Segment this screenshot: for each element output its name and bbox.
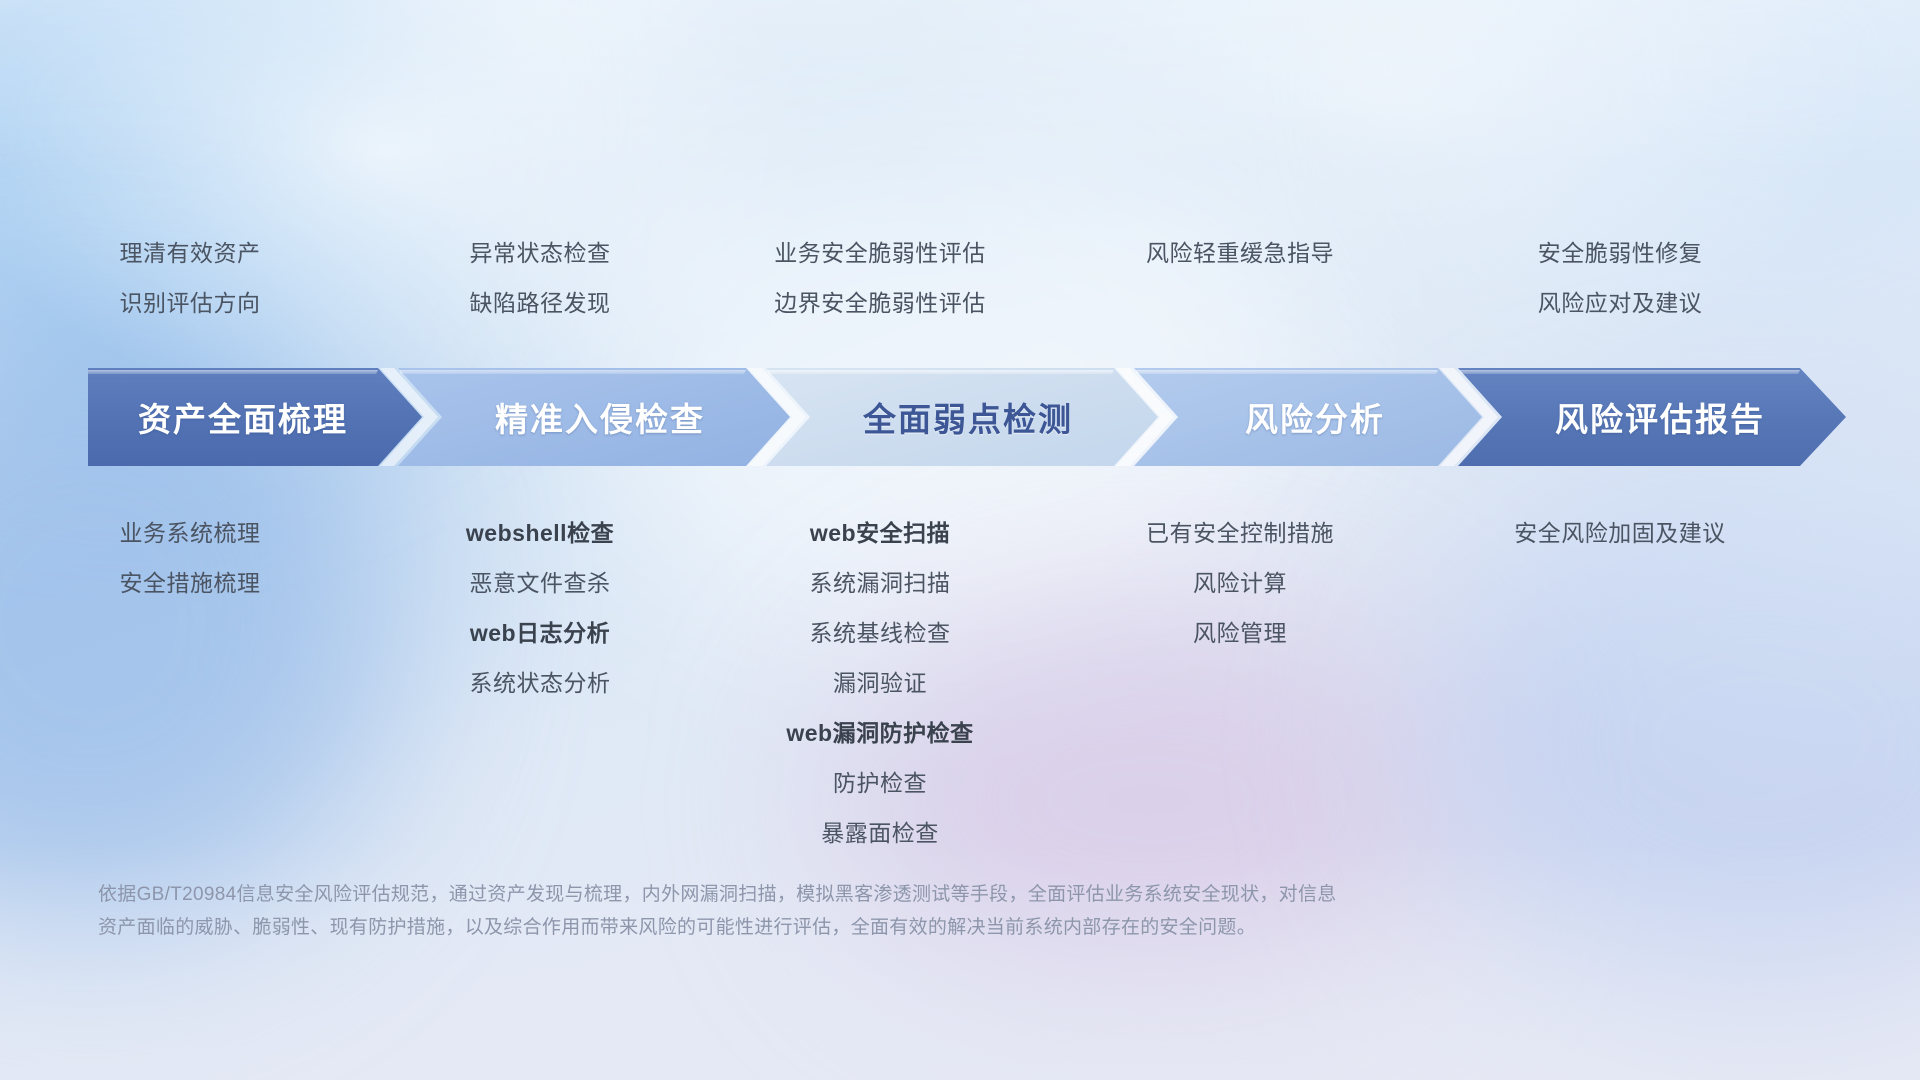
bottom-item: 暴露面检查 [700,808,1060,858]
bottom-item: 系统基线检查 [700,608,1060,658]
arrow-highlight-1 [88,370,378,374]
bottom-item: 漏洞验证 [700,658,1060,708]
bottom-item: 防护检查 [700,758,1060,808]
bottom-item: 已有安全控制措施 [1060,508,1420,558]
arrow-highlight-3 [768,370,1114,374]
arrow-segment-asset-inventory[interactable] [88,368,422,466]
arrow-segment-intrusion-check[interactable] [398,368,790,466]
top-column-intrusion-check: 异常状态检查 缺陷路径发现 [380,228,700,328]
top-item: 风险应对及建议 [1420,278,1820,328]
top-item: 异常状态检查 [380,228,700,278]
arrow-segment-assessment-report[interactable] [1458,368,1846,466]
bottom-column-weakness-detection: web安全扫描 系统漏洞扫描 系统基线检查 漏洞验证 web漏洞防护检查 防护检… [700,508,1060,858]
bottom-column-risk-analysis: 已有安全控制措施 风险计算 风险管理 [1060,508,1420,658]
top-item: 边界安全脆弱性评估 [700,278,1060,328]
arrow-highlight-4 [1136,370,1438,374]
top-column-risk-analysis: 风险轻重缓急指导 [1060,228,1420,328]
top-item: 安全脆弱性修复 [1420,228,1820,278]
bottom-item: 业务系统梳理 [0,508,380,558]
top-item: 风险轻重缓急指导 [1060,228,1420,278]
bottom-item: 恶意文件查杀 [380,558,700,608]
bottom-item: web漏洞防护检查 [700,708,1060,758]
bottom-item: 风险计算 [1060,558,1420,608]
arrow-highlight-5 [1460,370,1800,374]
bottom-item: 安全风险加固及建议 [1420,508,1820,558]
top-column-assessment-report: 安全脆弱性修复 风险应对及建议 [1420,228,1820,328]
bottom-column-asset-inventory: 业务系统梳理 安全措施梳理 [0,508,380,608]
top-item: 识别评估方向 [0,278,380,328]
top-column-weakness-detection: 业务安全脆弱性评估 边界安全脆弱性评估 [700,228,1060,328]
bottom-item: web安全扫描 [700,508,1060,558]
process-arrow-band: 资产全面梳理 精准入侵检查 全面弱点检测 风险分析 风险评估报告 [0,368,1920,466]
bottom-column-intrusion-check: webshell检查 恶意文件查杀 web日志分析 系统状态分析 [380,508,700,708]
arrow-highlight-2 [400,370,746,374]
footer-note-line-1: 依据GB/T20984信息安全风险评估规范，通过资产发现与梳理，内外网漏洞扫描，… [98,878,1598,911]
bottom-column-assessment-report: 安全风险加固及建议 [1420,508,1820,558]
bottom-item: 安全措施梳理 [0,558,380,608]
bottom-item: webshell检查 [380,508,700,558]
bottom-item: 系统漏洞扫描 [700,558,1060,608]
top-column-asset-inventory: 理清有效资产 识别评估方向 [0,228,380,328]
top-descriptor-row: 理清有效资产 识别评估方向 异常状态检查 缺陷路径发现 业务安全脆弱性评估 边界… [0,228,1920,328]
bottom-item: 风险管理 [1060,608,1420,658]
top-item: 缺陷路径发现 [380,278,700,328]
bottom-item: web日志分析 [380,608,700,658]
footer-note: 依据GB/T20984信息安全风险评估规范，通过资产发现与梳理，内外网漏洞扫描，… [98,878,1598,944]
top-item: 理清有效资产 [0,228,380,278]
process-arrow-svg [0,368,1920,466]
top-item: 业务安全脆弱性评估 [700,228,1060,278]
bottom-descriptor-row: 业务系统梳理 安全措施梳理 webshell检查 恶意文件查杀 web日志分析 … [0,508,1920,858]
bottom-item: 系统状态分析 [380,658,700,708]
footer-note-line-2: 资产面临的威胁、脆弱性、现有防护措施，以及综合作用而带来风险的可能性进行评估，全… [98,911,1598,944]
arrow-segment-weakness-detection[interactable] [766,368,1158,466]
arrow-segment-risk-analysis[interactable] [1134,368,1482,466]
